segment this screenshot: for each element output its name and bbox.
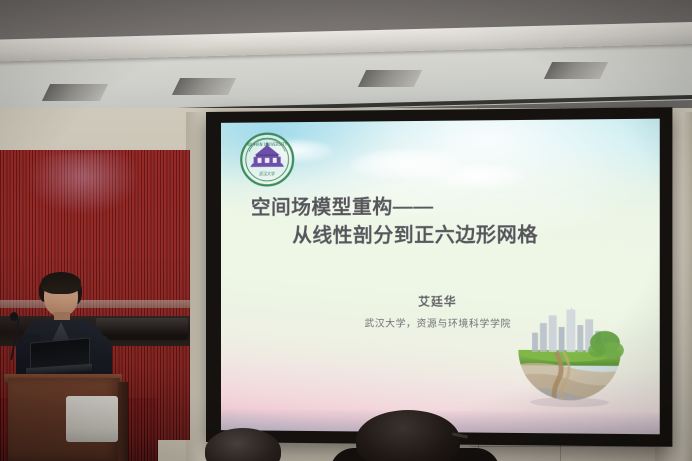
presenter-hair [41,272,81,294]
svg-text:武汉大学: 武汉大学 [259,171,275,176]
white-board-panel [66,396,118,442]
slide-title: 空间场模型重构—— 从线性剖分到正六边形网格 [251,191,628,251]
lecture-hall-photo: WUHAN UNIVERSITY 武汉大学 空间场模型重构—— 从线性剖分到正六… [0,0,692,461]
ceiling-vent-icon [42,84,108,101]
cloud-shape [429,164,526,190]
slide-title-line1: 空间场模型重构—— [251,195,434,218]
audience-head-right [356,410,460,461]
slide-title-line2: 从线性剖分到正六边形网格 [251,221,628,251]
projection-screen[interactable]: WUHAN UNIVERSITY 武汉大学 空间场模型重构—— 从线性剖分到正六… [206,107,672,447]
slide-surface: WUHAN UNIVERSITY 武汉大学 空间场模型重构—— 从线性剖分到正六… [221,119,660,435]
wall-light-reflection [28,152,138,214]
podium-side-panel [118,382,128,461]
podium-microphone-icon [10,312,18,321]
ceiling-vent-icon [172,78,236,95]
eco-globe-city-illustration-icon [509,307,630,412]
ceiling-vent-icon [358,70,422,87]
wuhan-university-emblem-icon: WUHAN UNIVERSITY 武汉大学 [239,131,295,188]
ceiling-vent-icon [544,62,608,79]
svg-text:WUHAN UNIVERSITY: WUHAN UNIVERSITY [247,142,288,147]
